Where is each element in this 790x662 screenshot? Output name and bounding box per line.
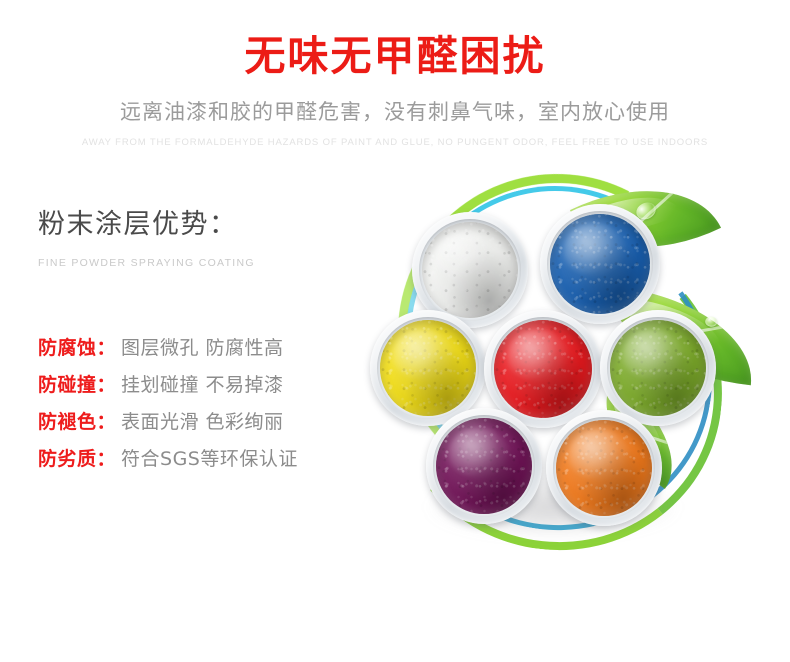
powder-mound	[569, 430, 629, 480]
powder-mound	[393, 330, 453, 380]
product-hero-image	[350, 168, 790, 616]
hero-stage	[350, 168, 790, 616]
advantages-section: 粉末涂层优势： FINE POWDER SPRAYING COATING 防腐蚀…	[38, 207, 368, 271]
powder-surface	[556, 420, 652, 516]
powder-grain	[550, 214, 650, 314]
feature-label: 防劣质：	[38, 443, 116, 475]
list-item: 防劣质： 符合SGS等环保认证	[38, 443, 368, 475]
powder-surface	[436, 418, 532, 514]
powder-grain	[556, 420, 652, 516]
blue-powder-jar	[540, 204, 660, 324]
powder-mound	[623, 330, 683, 380]
feature-text: 表面光滑 色彩绚丽	[116, 406, 284, 438]
powder-surface	[380, 320, 476, 416]
powder-grain	[610, 320, 706, 416]
powder-mound	[435, 232, 495, 282]
purple-powder-jar	[426, 408, 542, 524]
yellow-powder-jar	[370, 310, 486, 426]
list-item: 防碰撞： 挂划碰撞 不易掉漆	[38, 369, 368, 401]
advantages-title-en: FINE POWDER SPRAYING COATING	[38, 243, 368, 271]
powder-mound	[508, 330, 569, 381]
page-headline: 无味无甲醛困扰	[0, 0, 790, 81]
powder-surface	[422, 222, 518, 318]
feature-text: 图层微孔 防腐性高	[116, 332, 284, 364]
powder-grain	[380, 320, 476, 416]
powder-mound	[564, 224, 626, 276]
list-item: 防腐蚀： 图层微孔 防腐性高	[38, 332, 368, 364]
advantages-title: 粉末涂层优势：	[38, 207, 368, 243]
powder-surface	[550, 214, 650, 314]
powder-surface	[494, 320, 592, 418]
feature-label: 防腐蚀：	[38, 332, 116, 364]
feature-text: 符合SGS等环保认证	[116, 443, 298, 475]
powder-grain	[436, 418, 532, 514]
powder-grain	[422, 222, 518, 318]
feature-label: 防褪色：	[38, 406, 116, 438]
list-item: 防褪色： 表面光滑 色彩绚丽	[38, 406, 368, 438]
header-banner: 无味无甲醛困扰 远离油漆和胶的甲醛危害，没有刺鼻气味，室内放心使用 AWAY F…	[0, 0, 790, 150]
powder-grain	[494, 320, 592, 418]
advantages-list: 防腐蚀： 图层微孔 防腐性高 防碰撞： 挂划碰撞 不易掉漆 防褪色： 表面光滑 …	[38, 332, 368, 480]
header-subhead-en: AWAY FROM THE FORMALDEHYDE HAZARDS OF PA…	[0, 127, 790, 150]
header-subhead-cn: 远离油漆和胶的甲醛危害，没有刺鼻气味，室内放心使用	[0, 81, 790, 127]
product-detail-page: 无味无甲醛困扰 远离油漆和胶的甲醛危害，没有刺鼻气味，室内放心使用 AWAY F…	[0, 0, 790, 662]
green-powder-jar	[600, 310, 716, 426]
powder-mound	[449, 428, 509, 478]
orange-powder-jar	[546, 410, 662, 526]
feature-label: 防碰撞：	[38, 369, 116, 401]
feature-text: 挂划碰撞 不易掉漆	[116, 369, 284, 401]
powder-surface	[610, 320, 706, 416]
